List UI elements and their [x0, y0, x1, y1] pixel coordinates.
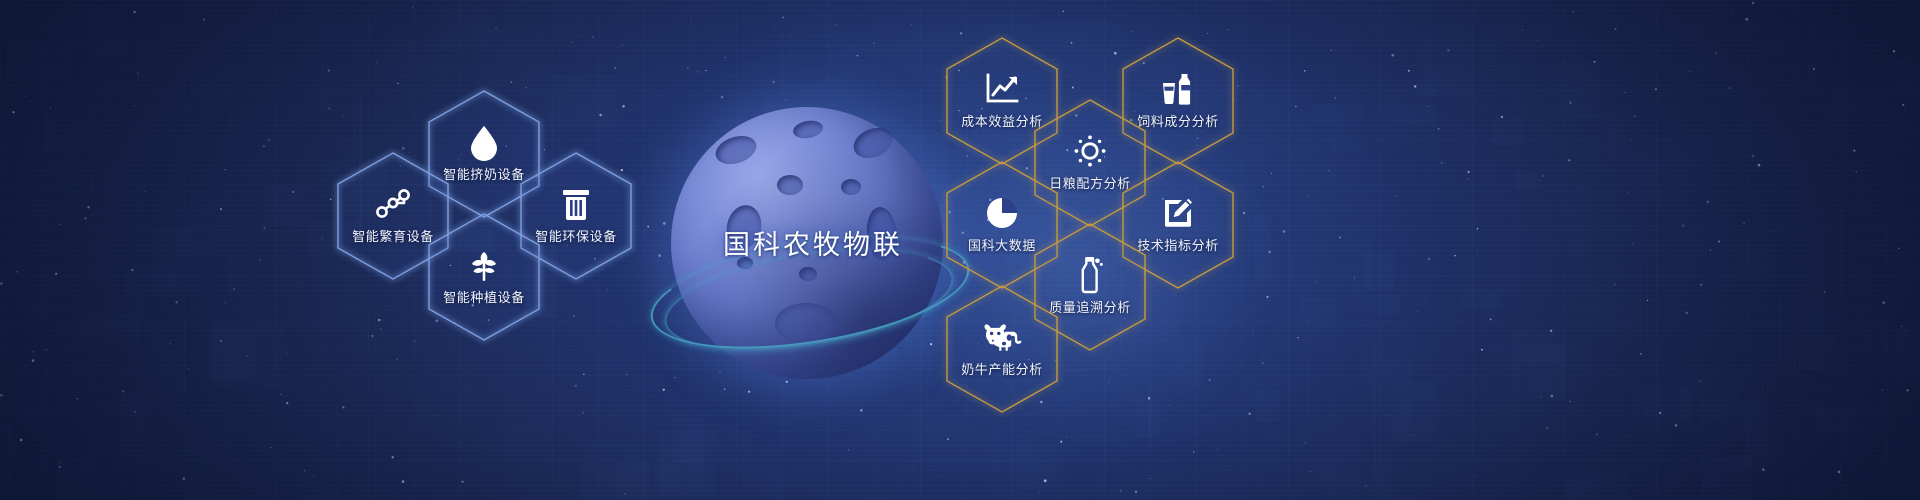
center-planet: 国科农牧物联 — [649, 95, 969, 395]
hex-tile-plant-leaf[interactable]: 智能种植设备 — [428, 213, 540, 341]
cow-icon — [985, 320, 1019, 354]
hex-tile-label: 国科大数据 — [968, 235, 1036, 254]
water-drop-icon — [467, 125, 501, 159]
pencil-edit-icon — [1161, 196, 1195, 230]
hex-tile-label: 奶牛产能分析 — [961, 359, 1043, 378]
hex-tile-label: 智能环保设备 — [535, 226, 617, 245]
hex-tile-cow[interactable]: 奶牛产能分析 — [946, 285, 1058, 413]
hero-banner: 国科农牧物联 智能挤奶设备智能繁育设备智能环保设备智能种植设备成本效益分析饲料成… — [0, 0, 1920, 500]
hex-tile-label: 智能挤奶设备 — [443, 164, 525, 183]
hex-tile-label: 质量追溯分析 — [1049, 297, 1131, 316]
pie-chart-icon — [985, 196, 1019, 230]
hex-tile-label: 智能种植设备 — [443, 287, 525, 306]
plant-leaf-icon — [467, 248, 501, 282]
sun-icon — [1073, 134, 1107, 168]
trash-bin-icon — [559, 187, 593, 221]
milk-bottle-cup-icon — [1161, 72, 1195, 106]
hex-tile-label: 技术指标分析 — [1137, 235, 1219, 254]
node-network-icon — [376, 187, 410, 221]
milk-bottle-icon — [1073, 258, 1107, 292]
hex-tile-label: 成本效益分析 — [961, 111, 1043, 130]
page-title: 国科农牧物联 — [649, 95, 969, 395]
line-chart-icon — [985, 72, 1019, 106]
hex-tile-label: 日粮配方分析 — [1049, 173, 1131, 192]
hex-tile-label: 智能繁育设备 — [352, 226, 434, 245]
hex-tile-label: 饲料成分分析 — [1137, 111, 1219, 130]
